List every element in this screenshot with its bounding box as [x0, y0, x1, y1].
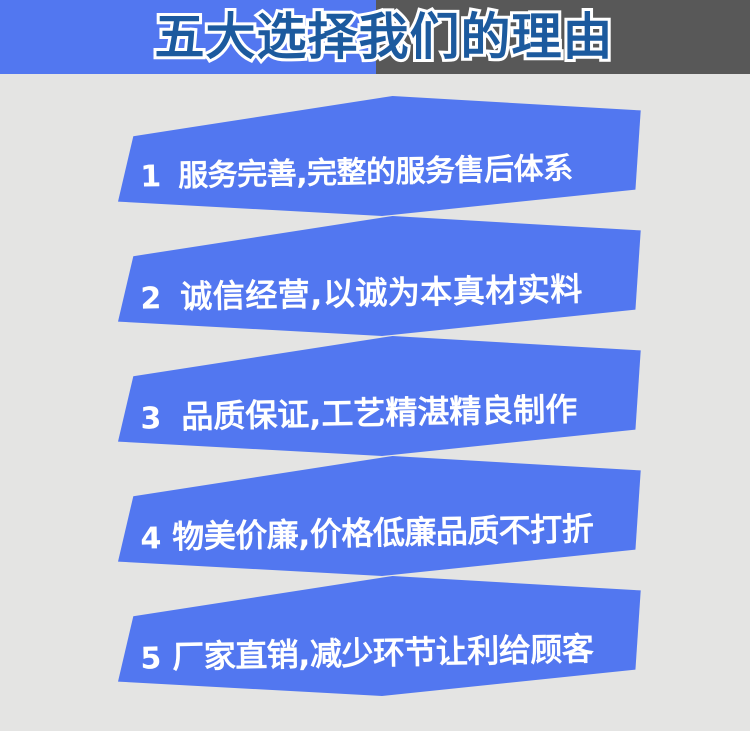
reason-label: 厂家直销,减少环节让利给顾客 [172, 632, 594, 672]
reason-label: 服务完善,完整的服务售后体系 [178, 154, 573, 192]
reason-content: 4 物美价廉,价格低廉品质不打折 [117, 451, 647, 581]
reason-item-4: 4 物美价廉,价格低廉品质不打折 [0, 456, 750, 584]
page-title: 五大选择我们的理由 [0, 0, 750, 74]
reason-number: 5 [140, 644, 161, 674]
reason-label: 品质保证,工艺精湛精良制作 [181, 393, 578, 433]
reason-number: 1 [140, 162, 161, 192]
reason-item-1: 1 服务完善,完整的服务售后体系 [0, 96, 750, 224]
promo-page: 五大选择我们的理由 1 服务完善,完整的服务售后体系 2 诚信经营,以诚为本真材… [0, 0, 750, 731]
reason-content: 2 诚信经营,以诚为本真材实料 [117, 211, 647, 341]
reason-label: 诚信经营,以诚为本真材实料 [180, 273, 583, 313]
reason-item-5: 5 厂家直销,减少环节让利给顾客 [0, 576, 750, 704]
reason-item-2: 2 诚信经营,以诚为本真材实料 [0, 216, 750, 344]
reasons-list: 1 服务完善,完整的服务售后体系 2 诚信经营,以诚为本真材实料 3 品质保证,… [0, 74, 750, 731]
reason-number: 4 [140, 524, 161, 554]
reason-item-3: 3 品质保证,工艺精湛精良制作 [0, 336, 750, 464]
reason-content: 3 品质保证,工艺精湛精良制作 [117, 331, 647, 461]
reason-content: 5 厂家直销,减少环节让利给顾客 [117, 571, 647, 701]
reason-content: 1 服务完善,完整的服务售后体系 [117, 91, 647, 221]
page-header: 五大选择我们的理由 [0, 0, 750, 74]
reason-number: 3 [140, 404, 161, 434]
reason-label: 物美价廉,价格低廉品质不打折 [172, 512, 594, 552]
reason-number: 2 [140, 284, 161, 314]
